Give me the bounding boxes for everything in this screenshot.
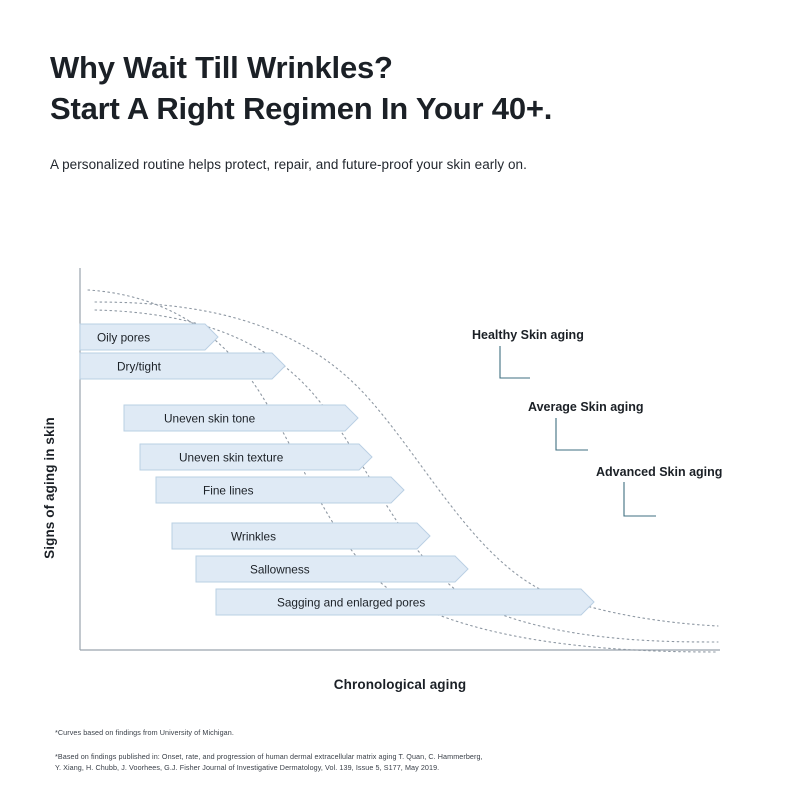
footnote-3: Y. Xiang, H. Chubb, J. Voorhees, G.J. Fi… xyxy=(55,763,695,774)
bar-uneven-skin-tone: Uneven skin tone xyxy=(124,405,358,431)
bar-label: Fine lines xyxy=(203,484,254,498)
page-subtitle: A personalized routine helps protect, re… xyxy=(50,157,750,172)
infographic-page: Why Wait Till Wrinkles? Start A Right Re… xyxy=(0,0,800,800)
bar-wrinkles: Wrinkles xyxy=(172,523,430,549)
x-axis-label: Chronological aging xyxy=(0,677,800,692)
bar-label: Wrinkles xyxy=(231,530,276,544)
bar-label: Uneven skin texture xyxy=(179,451,284,465)
curve-label-advanced: Advanced Skin aging xyxy=(596,465,722,479)
bar-label: Dry/tight xyxy=(117,360,162,374)
leader-healthy-skin-aging xyxy=(500,346,530,378)
bar-label: Oily pores xyxy=(97,331,150,345)
bar-label: Sagging and enlarged pores xyxy=(277,596,425,610)
footnote-2: *Based on findings published in: Onset, … xyxy=(55,752,695,763)
leader-advanced-skin-aging xyxy=(624,482,656,516)
y-axis-label: Signs of aging in skin xyxy=(42,158,57,378)
headline-line-1: Why Wait Till Wrinkles? xyxy=(50,50,393,85)
chart-svg: Oily pores Dry/tight Uneven skin tone Un… xyxy=(0,250,800,670)
aging-chart: Signs of aging in skin Oily pores Dry/ti… xyxy=(0,250,800,720)
footnotes: *Curves based on findings from Universit… xyxy=(55,728,695,773)
headline-line-2: Start A Right Regimen In Your 40+. xyxy=(50,89,760,130)
page-title: Why Wait Till Wrinkles? Start A Right Re… xyxy=(50,48,760,130)
bar-dry-tight: Dry/tight xyxy=(80,353,285,379)
bar-uneven-skin-texture: Uneven skin texture xyxy=(140,444,372,470)
y-axis-label-text: Signs of aging in skin xyxy=(42,378,57,598)
curve-label-average: Average Skin aging xyxy=(528,400,644,414)
bar-sallowness: Sallowness xyxy=(196,556,468,582)
bar-oily-pores: Oily pores xyxy=(80,324,218,350)
curve-label-healthy: Healthy Skin aging xyxy=(472,328,584,342)
bar-label: Uneven skin tone xyxy=(164,412,256,426)
bar-fine-lines: Fine lines xyxy=(156,477,404,503)
leader-average-skin-aging xyxy=(556,418,588,450)
bar-sagging-and-enlarged-pores: Sagging and enlarged pores xyxy=(216,589,594,615)
bar-label: Sallowness xyxy=(250,563,310,577)
footnote-1: *Curves based on findings from Universit… xyxy=(55,728,695,739)
